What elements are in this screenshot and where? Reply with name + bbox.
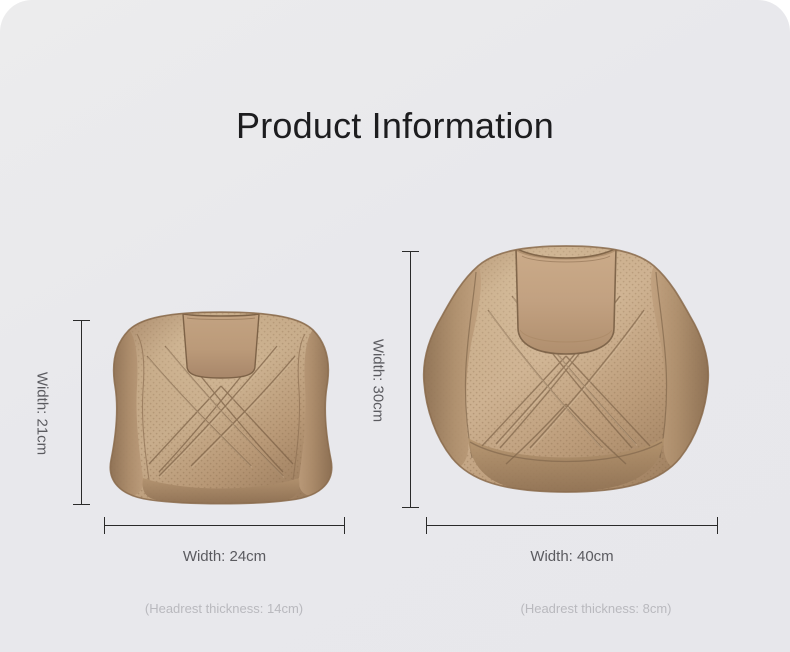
headrest-width-line [104,525,345,526]
product-information-panel: Product Information [0,0,790,652]
headrest-height-label: Width: 21cm [34,366,51,462]
lumbar-width-line [426,525,718,526]
product-image-headrest-pillow [95,300,347,512]
product-image-lumbar-cushion [418,232,714,522]
headrest-thickness-note: (Headrest thickness: 14cm) [94,601,354,616]
headrest-height-line [81,320,82,505]
center-tab [516,248,616,354]
lumbar-thickness-note: (Headrest thickness: 8cm) [466,601,726,616]
lumbar-width-label: Width: 40cm [426,548,718,565]
headrest-width-label: Width: 24cm [104,548,345,565]
center-tab [183,314,259,378]
page-title: Product Information [0,104,790,148]
lumbar-height-label: Width: 30cm [370,333,387,429]
lumbar-height-line [410,251,411,508]
